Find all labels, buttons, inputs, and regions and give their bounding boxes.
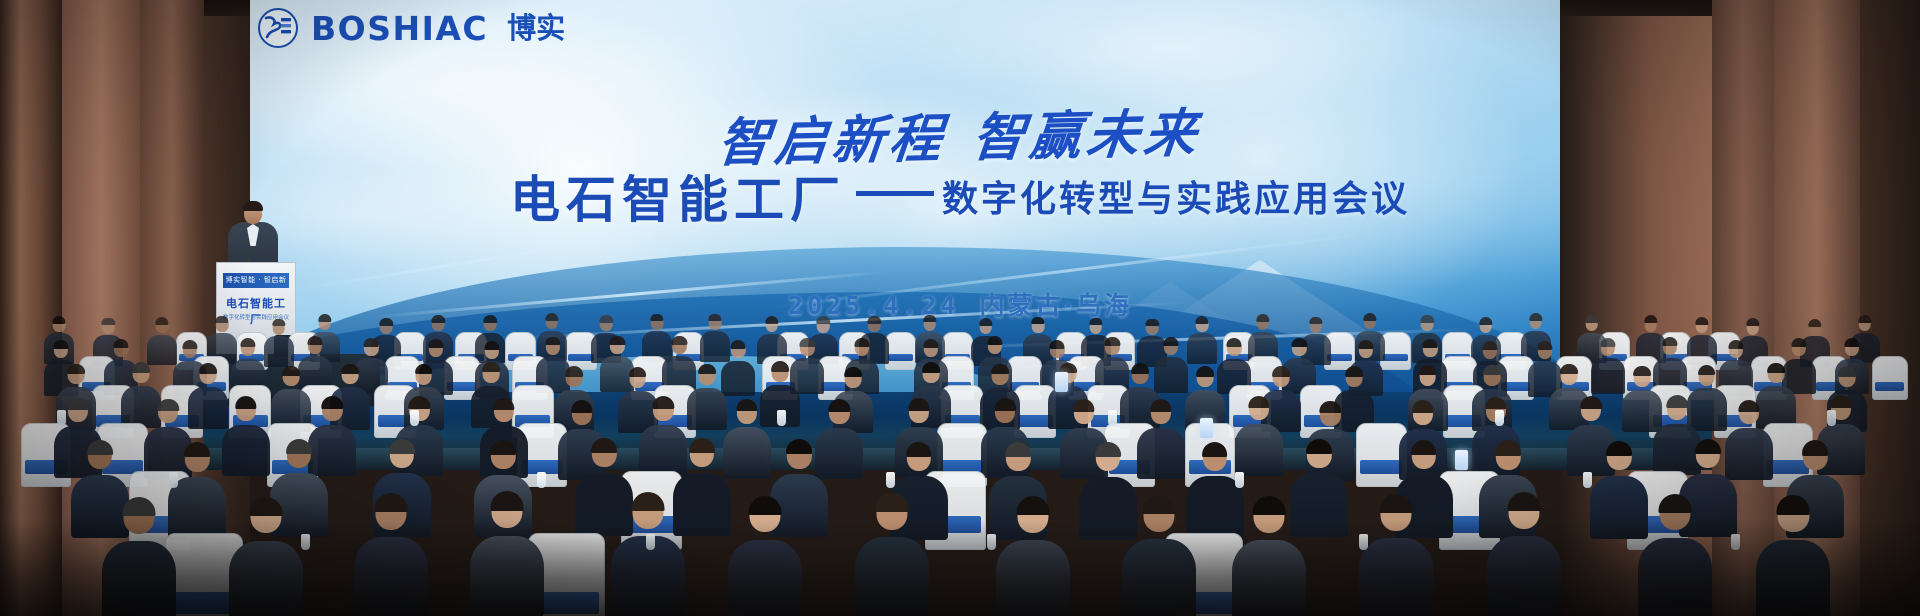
audience-member-hair [1633, 366, 1651, 376]
audience-member-hair [1746, 318, 1759, 326]
audience-member-hair [114, 339, 129, 348]
water-cup [777, 410, 786, 426]
audience-member-hair [868, 316, 881, 324]
audience-member-hair [482, 362, 500, 372]
audience-member-body [728, 540, 802, 616]
water-cup [1108, 410, 1117, 426]
water-cup [301, 534, 310, 550]
audience-member-hair [1485, 397, 1506, 409]
audience-member-hair [991, 364, 1009, 374]
audience-member-hair [698, 364, 716, 374]
audience-member-body [1137, 428, 1185, 479]
audience-member-hair [380, 318, 393, 326]
audience-member-body [1359, 538, 1433, 616]
audience-member-hair [1309, 317, 1322, 325]
audience-member-hair [1411, 440, 1437, 455]
audience-member-hair [1831, 395, 1852, 407]
audience-member-body [1122, 539, 1196, 616]
water-cup [537, 472, 546, 488]
audience-member-hair [591, 438, 617, 453]
attendee-phone-screen [1455, 450, 1468, 470]
audience-member-hair [1272, 366, 1290, 376]
audience-member [1187, 318, 1217, 364]
audience-member-hair [409, 396, 430, 408]
audience-member-hair [906, 442, 932, 457]
audience-member-hair [736, 399, 757, 411]
water-cup [1359, 534, 1368, 550]
audience-member-hair [786, 439, 812, 454]
audience-member-body [470, 536, 544, 616]
audience-member-hair [1073, 399, 1094, 411]
audience-member [1359, 496, 1433, 616]
audience-member [1122, 497, 1196, 616]
audience-member-hair [1202, 442, 1228, 457]
audience-member-body [1591, 358, 1625, 394]
audience-member-hair [364, 338, 379, 347]
title-dash-rule [856, 191, 934, 196]
audience-member-hair [1482, 341, 1497, 350]
audience-member-hair [1142, 495, 1175, 514]
audience-member-hair [1659, 494, 1692, 513]
audience-member-hair [629, 367, 647, 377]
audience-member-body [1756, 540, 1830, 616]
audience-member-hair [1412, 400, 1433, 412]
audience-member-hair [631, 492, 664, 511]
audience-member-hair [1419, 365, 1437, 375]
audience-member-hair [490, 491, 523, 510]
audience-member-hair [1345, 366, 1363, 376]
audience-member-hair [571, 400, 592, 412]
audience-member-hair [1150, 399, 1171, 411]
audience-member-body [264, 336, 294, 366]
audience-member-hair [1423, 339, 1438, 348]
audience-member-hair [908, 398, 929, 410]
audience-member-hair [1479, 317, 1492, 325]
audience-chair [885, 332, 917, 370]
audience-member-hair [994, 398, 1015, 410]
audience-member-hair [122, 497, 155, 516]
audience-member-hair [765, 316, 778, 324]
audience-member-hair [1538, 341, 1553, 350]
speaker-person [222, 203, 284, 269]
audience-member [354, 495, 428, 616]
audience-member [728, 498, 802, 616]
audience-member-hair [282, 366, 300, 376]
audience-member-hair [923, 339, 938, 348]
chair-band [1875, 382, 1904, 391]
audience-member-hair [1421, 315, 1434, 323]
audience-member-body [1232, 540, 1306, 616]
audience-member [1591, 340, 1625, 394]
audience-member-hair [545, 337, 560, 346]
audience-member-hair [1606, 441, 1632, 456]
audience-member-hair [341, 364, 359, 374]
audience-member-hair [67, 398, 88, 410]
audience-member-hair [829, 399, 850, 411]
audience-member [1232, 498, 1306, 616]
audience-member-hair [374, 493, 407, 512]
audience-member-hair [87, 440, 113, 455]
audience-member-hair [249, 497, 282, 516]
audience-member-hair [432, 315, 445, 323]
audience-member-hair [1253, 496, 1286, 515]
audience-member-hair [322, 396, 343, 408]
audience-member-hair [855, 338, 870, 347]
audience-member-hair [102, 318, 115, 326]
audience-member-hair [1196, 366, 1214, 376]
audience-member-hair [1808, 319, 1821, 327]
audience-member-hair [184, 442, 210, 457]
water-cup [1495, 410, 1504, 426]
audience-member-hair [1560, 364, 1578, 374]
audience-member-hair [1292, 338, 1307, 347]
audience-member-hair [1695, 439, 1721, 454]
conference-photo-scene: BOSHIAC 博实 智启新程智赢未来 电石智能工厂 数字化转型与实践应用会议 … [0, 0, 1920, 616]
audience-member-hair [689, 438, 715, 453]
audience-member-hair [1698, 365, 1716, 375]
audience-member [1590, 443, 1648, 539]
attendee-phone-screen [1200, 418, 1213, 438]
audience-member-hair [1358, 340, 1373, 349]
speaker-hair [243, 201, 263, 211]
audience-member-body [222, 425, 270, 476]
audience-member-hair [67, 364, 85, 374]
audience-member-hair [875, 493, 908, 512]
audience-member-hair [1195, 316, 1208, 324]
audience-member-hair [1363, 313, 1376, 321]
audience-member [1638, 496, 1712, 616]
audience-member-hair [1695, 317, 1708, 325]
audience-member-hair [307, 336, 322, 345]
audience-member-hair [844, 367, 862, 377]
audience-member-hair [1050, 340, 1065, 349]
audience-member-body [1638, 538, 1712, 616]
audience-member-hair [800, 338, 815, 347]
water-cup [1827, 410, 1836, 426]
podium-banner-strip: 博实智能 · 智启新程 [223, 273, 289, 288]
audience-member-hair [199, 363, 217, 373]
audience-member-hair [1507, 492, 1540, 511]
water-cup [646, 534, 655, 550]
water-cup [410, 410, 419, 426]
audience-member-hair [708, 314, 721, 322]
audience-member [996, 498, 1070, 616]
audience-member-hair [215, 316, 228, 324]
audience-member-hair [1105, 337, 1120, 346]
audience-member-hair [389, 439, 415, 454]
attendee-phone-screen [1055, 372, 1068, 392]
chair-band [171, 592, 236, 614]
audience-member-hair [1777, 495, 1810, 514]
audience-member-hair [1858, 315, 1871, 323]
audience-member-hair [610, 336, 625, 345]
audience-member-body [1187, 333, 1217, 363]
audience-member-body [1487, 536, 1561, 616]
audience-member-hair [1663, 337, 1678, 346]
audience-member [168, 444, 226, 540]
slogan-line-2: 智赢未来 [969, 103, 1204, 169]
audience-member [723, 401, 771, 479]
audience-member-hair [1131, 363, 1149, 373]
audience-member-hair [132, 362, 150, 372]
audience-member-hair [650, 314, 663, 322]
audience-member [1235, 398, 1283, 476]
audience-member-hair [1600, 338, 1615, 347]
brand-logo: BOSHIAC 博实 [258, 6, 565, 50]
water-cup [886, 472, 895, 488]
audience-member-hair [1248, 396, 1269, 408]
audience-chair [1872, 356, 1908, 400]
conference-subtitle: 数字化转型与实践应用会议 [942, 170, 1410, 222]
audience-member [1137, 401, 1185, 479]
audience-member-hair [1496, 440, 1522, 455]
audience-member-hair [923, 315, 936, 323]
audience-member-hair [484, 315, 497, 323]
audience-member-hair [987, 336, 1002, 345]
audience-member-hair [53, 340, 68, 349]
audience-member-hair [155, 317, 168, 325]
audience-member-body [102, 541, 176, 616]
audience-member-hair [1791, 338, 1806, 347]
audience-member-hair [1163, 337, 1178, 346]
audience-member-hair [1483, 365, 1501, 375]
audience-member-hair [272, 319, 285, 327]
audience-member-hair [1838, 366, 1856, 376]
audience-member-hair [485, 341, 500, 350]
audience-member-hair [1728, 340, 1743, 349]
brand-chinese-name: 博实 [507, 14, 565, 43]
audience-member-body [229, 541, 303, 616]
audience-member-hair [817, 316, 830, 324]
audience-member-hair [428, 339, 443, 348]
audience-member-hair [1666, 395, 1687, 407]
audience-member-body [354, 537, 428, 616]
audience-member-hair [52, 316, 65, 324]
audience-member-hair [1320, 401, 1341, 413]
water-cup [1583, 472, 1592, 488]
audience-member-hair [1227, 338, 1242, 347]
audience-member-hair [922, 362, 940, 372]
audience-member-hair [1802, 440, 1828, 455]
audience-member-hair [490, 440, 516, 455]
chair-band [568, 354, 593, 362]
audience-member-hair [1016, 496, 1049, 515]
water-cup [1235, 472, 1244, 488]
audience-member [229, 499, 303, 616]
audience-member-hair [1644, 315, 1657, 323]
brand-wordmark: BOSHIAC [311, 12, 488, 45]
audience-member-hair [1089, 318, 1102, 326]
audience-member-hair [1379, 494, 1412, 513]
audience-member-hair [1529, 313, 1542, 321]
chair-band [888, 354, 913, 362]
audience-member [271, 368, 311, 432]
audience-member [1487, 494, 1561, 616]
audience-member-body [687, 388, 727, 430]
water-cup [987, 534, 996, 550]
audience-member [102, 499, 176, 616]
audience-member-hair [979, 318, 992, 326]
audience-member-hair [415, 364, 433, 374]
audience-member-hair [1005, 442, 1031, 457]
audience-member-hair [1845, 338, 1860, 347]
audience-member-hair [1095, 442, 1121, 457]
water-cup [169, 472, 178, 488]
chair-band [534, 592, 599, 614]
audience-member [611, 494, 685, 616]
audience-member [222, 398, 270, 476]
chair-band [1383, 354, 1408, 362]
audience-member-hair [565, 366, 583, 376]
audience-member-hair [235, 396, 256, 408]
audience-member-hair [1585, 315, 1598, 323]
audience-member [264, 321, 294, 367]
water-cup [1731, 534, 1740, 550]
audience-member-hair [240, 338, 255, 347]
audience-member-hair [771, 361, 789, 371]
audience-member-hair [493, 398, 514, 410]
water-cup [57, 410, 66, 426]
audience-member-hair [1306, 439, 1332, 454]
audience-member-hair [1581, 396, 1602, 408]
audience-member-hair [182, 340, 197, 349]
audience-member-hair [672, 336, 687, 345]
conference-title-row: 电石智能工厂 数字化转型与实践应用会议 [0, 160, 1920, 232]
audience-member-hair [286, 439, 312, 454]
audience-member-hair [545, 313, 558, 321]
boshiac-monogram-icon [258, 8, 298, 48]
audience-member [687, 366, 727, 430]
audience-member-hair [1767, 363, 1785, 373]
audience-member-hair [1146, 319, 1159, 327]
audience-member [470, 493, 544, 616]
audience-member-hair [1256, 314, 1269, 322]
audience-member-hair [1031, 317, 1044, 325]
audience-member-body [855, 537, 929, 616]
page-title: 电石智能工厂 [510, 160, 846, 232]
audience-seating [0, 300, 1920, 616]
audience-member [1756, 497, 1830, 616]
audience-member-hair [318, 314, 331, 322]
audience-member-hair [600, 315, 613, 323]
audience-member-hair [731, 340, 746, 349]
audience-member-hair [653, 396, 674, 408]
audience-member [855, 495, 929, 616]
audience-member-hair [749, 496, 782, 515]
audience-member-body [996, 540, 1070, 616]
